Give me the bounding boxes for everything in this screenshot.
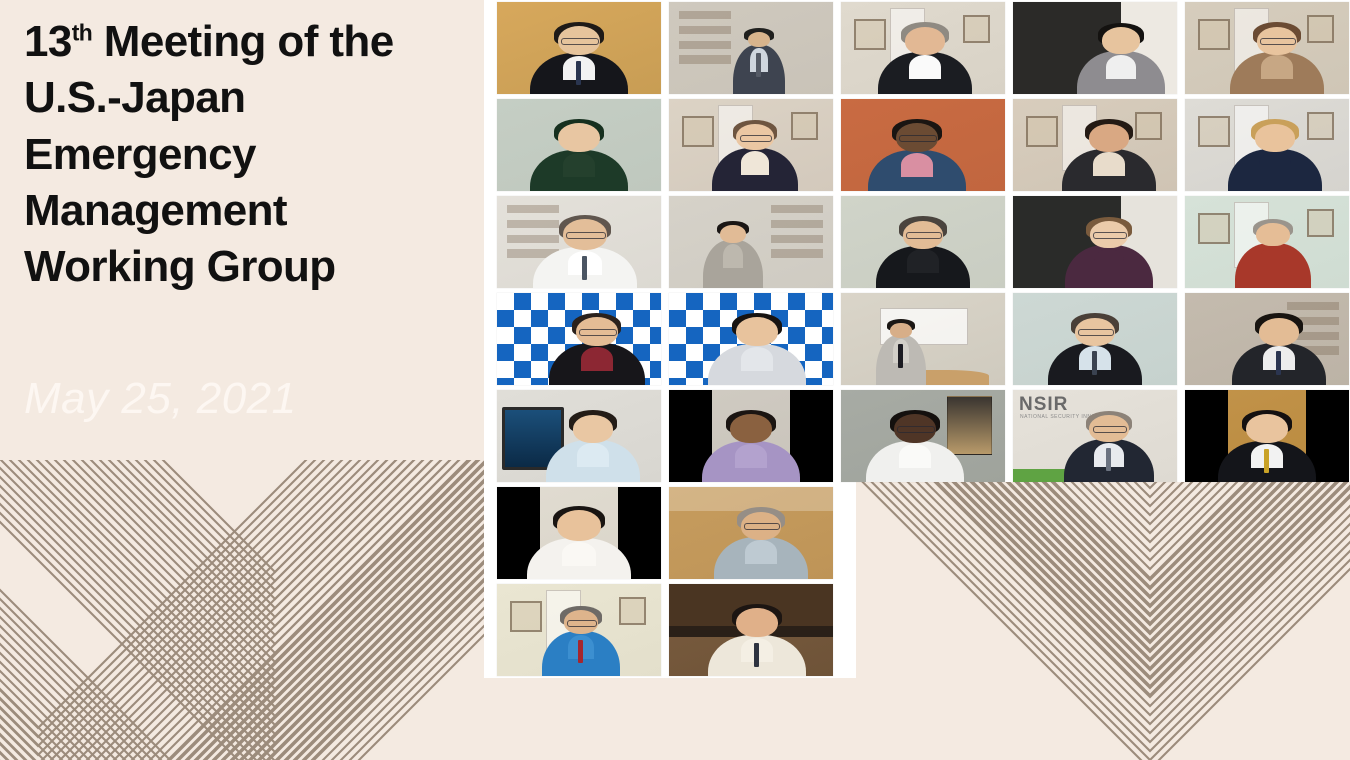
bookshelf bbox=[507, 235, 559, 243]
participant-collar bbox=[1094, 249, 1124, 273]
participant-tile[interactable] bbox=[1185, 390, 1349, 482]
eyeglasses bbox=[561, 38, 599, 45]
participant-face bbox=[748, 32, 770, 47]
participant-tie bbox=[756, 53, 761, 77]
title-ordinal-suffix: th bbox=[72, 19, 92, 45]
participant-face bbox=[736, 608, 779, 637]
participant-grid: NSIRNATIONAL SECURITY INNOVATION bbox=[497, 2, 1350, 674]
participant-face bbox=[736, 317, 779, 346]
participant-face bbox=[905, 27, 946, 55]
bookshelf bbox=[507, 220, 559, 228]
picture-frame bbox=[963, 15, 990, 43]
participant-tie bbox=[754, 643, 759, 667]
video-scene bbox=[841, 99, 1005, 191]
participant-tile[interactable] bbox=[497, 584, 661, 676]
participant-collar bbox=[1259, 152, 1290, 176]
participant-collar bbox=[899, 444, 932, 468]
participant-collar bbox=[723, 244, 743, 268]
picture-frame bbox=[1198, 116, 1230, 148]
participant-face bbox=[1255, 124, 1296, 152]
participant-collar bbox=[581, 347, 613, 371]
participant-face bbox=[557, 510, 602, 541]
participant-face bbox=[1256, 223, 1289, 246]
participant-face bbox=[1246, 414, 1289, 443]
video-scene bbox=[1185, 390, 1349, 482]
video-scene bbox=[1185, 196, 1349, 288]
video-scene bbox=[669, 196, 833, 288]
title-panel: 13th Meeting of the U.S.-Japan Emergency… bbox=[0, 0, 484, 760]
eyeglasses bbox=[1093, 426, 1128, 433]
video-scene bbox=[1013, 196, 1177, 288]
participant-tile[interactable] bbox=[497, 99, 661, 191]
bookshelf bbox=[679, 11, 731, 19]
video-scene bbox=[497, 293, 661, 385]
bookshelf bbox=[771, 205, 823, 213]
participant-tile[interactable] bbox=[669, 487, 833, 579]
video-scene bbox=[497, 99, 661, 191]
participant-collar bbox=[1106, 55, 1136, 79]
participant-collar bbox=[563, 153, 596, 177]
bookshelf bbox=[679, 26, 731, 34]
bookshelf bbox=[1287, 302, 1339, 310]
participant-face bbox=[720, 225, 746, 243]
bookshelf bbox=[771, 235, 823, 243]
participant-tile[interactable] bbox=[1185, 2, 1349, 94]
video-scene bbox=[497, 196, 661, 288]
picture-frame bbox=[854, 19, 886, 51]
participant-tile[interactable] bbox=[497, 293, 661, 385]
meeting-date: May 25, 2021 bbox=[24, 374, 297, 424]
participant-collar bbox=[909, 55, 940, 79]
video-scene bbox=[669, 293, 833, 385]
participant-tile[interactable] bbox=[669, 196, 833, 288]
participant-face bbox=[1259, 318, 1300, 346]
participant-collar bbox=[735, 444, 768, 468]
participant-tie bbox=[1092, 351, 1097, 375]
wall-poster bbox=[947, 396, 992, 455]
participant-tile[interactable] bbox=[497, 390, 661, 482]
eyeglasses bbox=[579, 329, 616, 336]
participant-face bbox=[573, 415, 614, 443]
participant-tile[interactable] bbox=[669, 293, 833, 385]
participant-collar bbox=[1260, 247, 1286, 271]
eyeglasses bbox=[899, 135, 937, 142]
participant-tie bbox=[576, 61, 581, 85]
participant-tile[interactable] bbox=[497, 487, 661, 579]
picture-frame bbox=[1307, 209, 1334, 237]
video-scene: NSIRNATIONAL SECURITY INNOVATION bbox=[1013, 390, 1177, 482]
participant-collar bbox=[577, 443, 608, 467]
participant-tile[interactable] bbox=[841, 196, 1005, 288]
picture-frame bbox=[510, 601, 542, 633]
video-scene bbox=[497, 584, 661, 676]
participant-tile[interactable] bbox=[497, 2, 661, 94]
eyeglasses bbox=[897, 426, 935, 433]
picture-frame bbox=[791, 112, 818, 140]
participant-tile[interactable] bbox=[1013, 196, 1177, 288]
participant-tile[interactable] bbox=[669, 584, 833, 676]
eyeglasses bbox=[1093, 232, 1127, 239]
participant-tie bbox=[1106, 448, 1111, 472]
page-title: 13th Meeting of the U.S.-Japan Emergency… bbox=[24, 14, 469, 296]
participant-tile[interactable] bbox=[669, 99, 833, 191]
eyeglasses bbox=[1260, 38, 1296, 45]
video-scene bbox=[497, 2, 661, 94]
participant-tile[interactable] bbox=[841, 293, 1005, 385]
video-scene bbox=[669, 487, 833, 579]
participant-face bbox=[730, 414, 773, 443]
participant-tie bbox=[1264, 449, 1269, 473]
participant-tile[interactable] bbox=[1185, 99, 1349, 191]
participant-face bbox=[1102, 27, 1140, 53]
video-scene bbox=[669, 390, 833, 482]
presentation-slide: 13th Meeting of the U.S.-Japan Emergency… bbox=[0, 0, 1350, 760]
participant-tile[interactable] bbox=[497, 196, 661, 288]
video-scene bbox=[1185, 2, 1349, 94]
eyeglasses bbox=[567, 620, 597, 627]
participant-collar bbox=[1093, 152, 1124, 176]
bookshelf bbox=[771, 249, 823, 257]
video-scene bbox=[841, 2, 1005, 94]
picture-frame bbox=[1135, 112, 1162, 140]
video-scene bbox=[1013, 99, 1177, 191]
participant-collar bbox=[745, 540, 776, 564]
picture-frame bbox=[682, 116, 714, 148]
participant-collar bbox=[901, 153, 934, 177]
participant-collar bbox=[741, 347, 774, 371]
video-scene bbox=[1013, 293, 1177, 385]
video-scene bbox=[841, 390, 1005, 482]
picture-frame bbox=[1307, 15, 1334, 43]
participant-tie bbox=[898, 344, 903, 368]
video-scene bbox=[841, 196, 1005, 288]
video-scene bbox=[497, 390, 661, 482]
nsir-logo-text: NSIR bbox=[1019, 394, 1068, 416]
eyeglasses bbox=[906, 232, 942, 239]
video-scene bbox=[1185, 293, 1349, 385]
participant-collar bbox=[562, 542, 596, 566]
participant-face bbox=[1089, 124, 1130, 152]
picture-frame bbox=[619, 597, 646, 625]
participant-collar bbox=[1261, 55, 1292, 79]
participant-tie bbox=[578, 640, 583, 664]
eyeglasses bbox=[740, 135, 773, 142]
participant-tile[interactable] bbox=[841, 2, 1005, 94]
participant-tile[interactable] bbox=[669, 2, 833, 94]
picture-frame bbox=[1198, 19, 1230, 51]
participant-tile[interactable] bbox=[1013, 99, 1177, 191]
video-scene bbox=[841, 293, 1005, 385]
picture-frame bbox=[1026, 116, 1058, 148]
video-scene bbox=[669, 2, 833, 94]
video-scene bbox=[1185, 99, 1349, 191]
participant-tile[interactable] bbox=[1013, 293, 1177, 385]
participant-tile[interactable] bbox=[841, 99, 1005, 191]
bookshelf bbox=[679, 41, 731, 49]
participant-tile[interactable] bbox=[1185, 196, 1349, 288]
video-scene bbox=[669, 584, 833, 676]
participant-tile[interactable] bbox=[669, 390, 833, 482]
bookshelf bbox=[679, 55, 731, 63]
participant-face bbox=[558, 123, 601, 152]
video-scene bbox=[1013, 2, 1177, 94]
participant-tile[interactable]: NSIRNATIONAL SECURITY INNOVATION bbox=[1013, 390, 1177, 482]
eyeglasses bbox=[1078, 329, 1114, 336]
title-ordinal: 13 bbox=[24, 17, 72, 66]
video-scene bbox=[497, 487, 661, 579]
participant-collar bbox=[907, 249, 938, 273]
bookshelf bbox=[771, 220, 823, 228]
participant-tie bbox=[1276, 351, 1281, 375]
participant-tie bbox=[582, 256, 587, 280]
participant-collar bbox=[741, 151, 770, 175]
participant-tile[interactable] bbox=[841, 390, 1005, 482]
bookshelf bbox=[507, 205, 559, 213]
title-rest: Meeting of the U.S.-Japan Emergency Mana… bbox=[24, 17, 394, 291]
participant-tile[interactable] bbox=[1013, 2, 1177, 94]
picture-frame bbox=[1198, 213, 1230, 245]
eyeglasses bbox=[744, 523, 780, 530]
video-scene bbox=[669, 99, 833, 191]
eyeglasses bbox=[566, 232, 606, 239]
picture-frame bbox=[1307, 112, 1334, 140]
participant-face bbox=[890, 323, 911, 338]
participant-tile[interactable] bbox=[1185, 293, 1349, 385]
